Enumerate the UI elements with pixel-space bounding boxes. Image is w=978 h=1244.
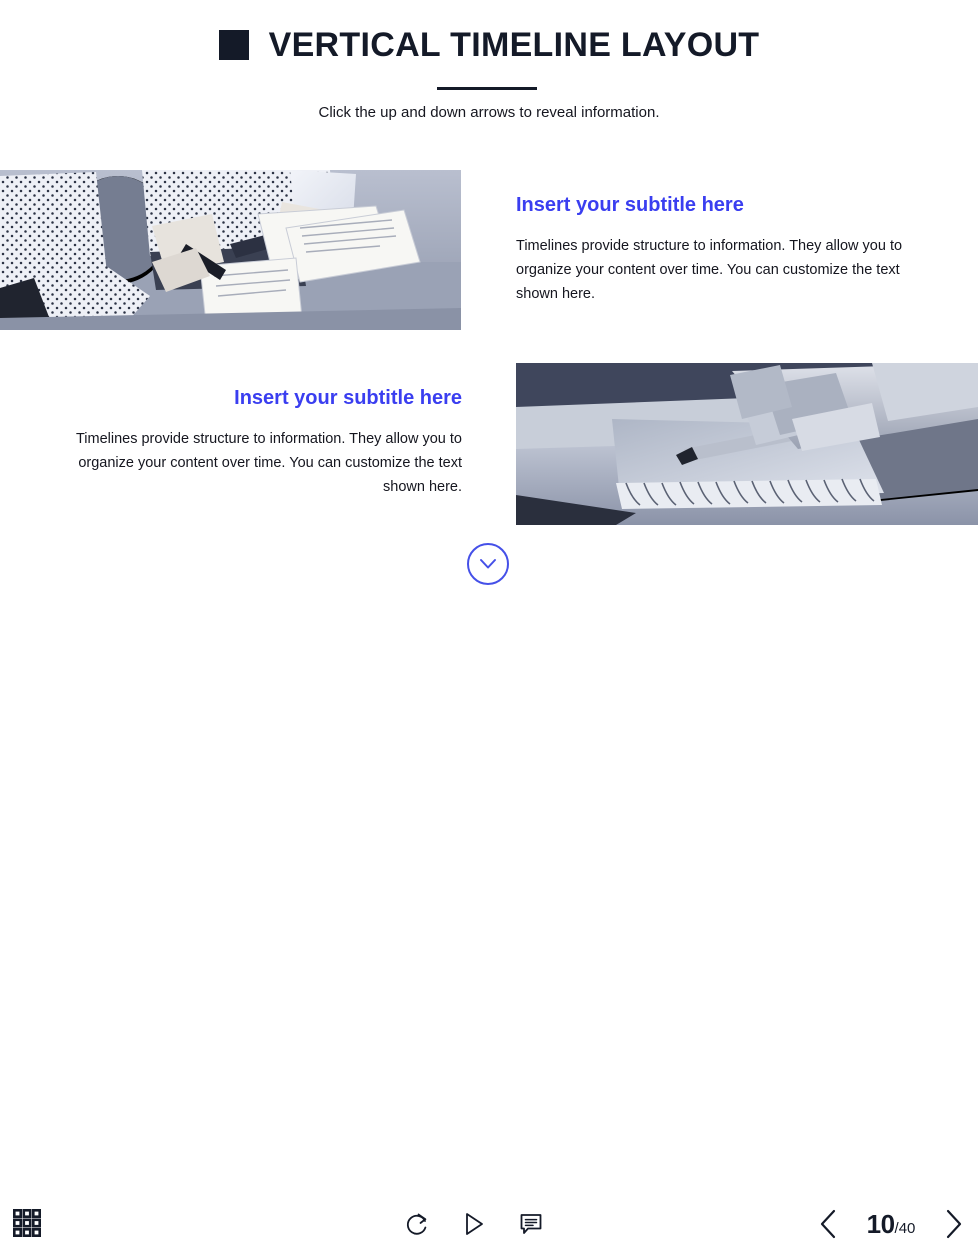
notebook-photo-graphic xyxy=(516,363,978,525)
slide-header: VERTICAL TIMELINE LAYOUT Click the up an… xyxy=(0,0,978,150)
prev-slide-button[interactable] xyxy=(818,1208,840,1240)
meeting-photo-graphic xyxy=(0,170,461,330)
replay-icon[interactable] xyxy=(405,1211,429,1237)
grid-menu-icon xyxy=(12,1208,42,1238)
timeline-subtitle-bottom: Insert your subtitle here xyxy=(42,386,462,410)
title-marker-square xyxy=(219,30,249,60)
chevron-down-icon xyxy=(478,557,498,571)
timeline-body-bottom: Timelines provide structure to informati… xyxy=(42,428,462,500)
timeline-block-top: Insert your subtitle here Timelines prov… xyxy=(516,193,936,307)
next-slide-button[interactable] xyxy=(942,1208,964,1240)
page-total: /40 xyxy=(895,1220,916,1237)
player-controls xyxy=(405,1206,580,1242)
menu-grid-button[interactable] xyxy=(12,1208,42,1238)
timeline-body-top: Timelines provide structure to informati… xyxy=(516,235,936,307)
notes-icon[interactable] xyxy=(519,1212,543,1236)
play-icon[interactable] xyxy=(463,1211,485,1237)
reveal-down-button[interactable] xyxy=(467,543,509,585)
page-counter: 10 /40 xyxy=(862,1209,920,1240)
timeline-image-meeting xyxy=(0,170,461,330)
bottom-navigation-bar: 10 /40 xyxy=(0,596,978,656)
page-current: 10 xyxy=(867,1209,895,1240)
title-divider xyxy=(437,87,537,90)
timeline-image-notebook xyxy=(516,363,978,525)
page-title: VERTICAL TIMELINE LAYOUT xyxy=(269,28,760,62)
timeline-subtitle-top: Insert your subtitle here xyxy=(516,193,936,217)
slide-instruction-text: Click the up and down arrows to reveal i… xyxy=(0,104,978,121)
timeline-block-bottom: Insert your subtitle here Timelines prov… xyxy=(42,386,462,500)
title-row: VERTICAL TIMELINE LAYOUT xyxy=(0,28,978,62)
pager: 10 /40 xyxy=(818,1204,964,1244)
